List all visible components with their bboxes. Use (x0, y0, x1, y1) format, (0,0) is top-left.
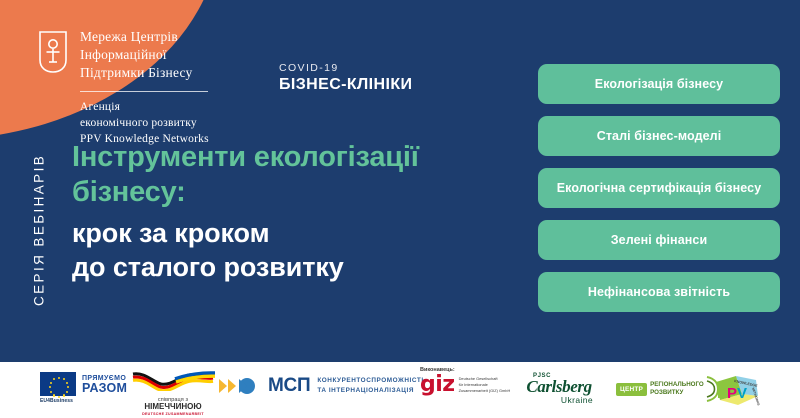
svg-text:V: V (737, 385, 747, 402)
logo-german-cooperation: співпраця з НІМЕЧЧИНОЮ DEUTSCHE ZUSAMMEN… (131, 371, 215, 416)
organization-name: Мережа Центрів Інформаційної Підтримки Б… (80, 28, 209, 82)
topic-pill-1[interactable]: Екологізація бізнесу (538, 64, 780, 104)
business-support-person-icon (38, 30, 68, 74)
logo-carlsberg: PJSC Carlsberg Ukraine (521, 373, 597, 405)
carlsberg-wordmark: Carlsberg (521, 379, 597, 395)
giz-wordmark: giz (420, 375, 455, 395)
logo-ppv-knowledge-networks: P P V KNOWLEDGE NETWORKS PPV KNOWLEDGE N… (712, 374, 772, 406)
topic-pill-2[interactable]: Сталі бізнес-моделі (538, 116, 780, 156)
german-coop-line3: DEUTSCHE ZUSAMMENARBEIT (131, 412, 215, 416)
msp-wordmark: МСП (268, 376, 310, 395)
msp-arrow-icon (219, 377, 261, 395)
giz-subtitle: Deutsche Gesellschaft für Internationale… (459, 376, 511, 394)
carlsberg-country: Ukraine (521, 395, 593, 405)
logo-giz: Виконавець: giz Deutsche Gesellschaft fü… (420, 367, 510, 395)
topic-pill-3[interactable]: Екологічна сертифікація бізнесу (538, 168, 780, 208)
german-coop-line2: НІМЕЧЧИНОЮ (131, 403, 215, 411)
crd-text: РЕГІОНАЛЬНОГО РОЗВИТКУ (650, 381, 704, 398)
topic-pill-5[interactable]: Нефінансова звітність (538, 272, 780, 312)
headline-primary: Інструменти екологізації бізнесу: (72, 140, 512, 210)
logo-regional-development-center: ЦЕНТР РЕГІОНАЛЬНОГО РОЗВИТКУ (616, 376, 720, 402)
organization-logo-block: Мережа Центрів Інформаційної Підтримки Б… (38, 28, 209, 147)
ppv-logo-icon: P P V KNOWLEDGE NETWORKS (712, 374, 772, 406)
webinar-series-banner: Мережа Центрів Інформаційної Підтримки Б… (0, 0, 800, 418)
logo-msp: МСП КОНКУРЕНТОСПРОМОЖНІСТЬ ТА ІНТЕРНАЦІО… (219, 376, 426, 395)
eyebrow-clinic-label: БІЗНЕС-КЛІНІКИ (279, 76, 412, 94)
page-title: Інструменти екологізації бізнесу: крок з… (72, 140, 512, 285)
ppv-tagline: KNOWLEDGE NETWORKS (772, 374, 773, 375)
svg-text:P: P (727, 385, 737, 402)
svg-text:P: P (717, 385, 727, 402)
msp-tagline: КОНКУРЕНТОСПРОМОЖНІСТЬ ТА ІНТЕРНАЦІОНАЛІ… (317, 376, 426, 395)
eyebrow-covid-label: COVID-19 (279, 62, 412, 74)
partner-logo-strip: EU4Business ПРЯМУЄМО РАЗОМ співпраця з Н… (0, 362, 800, 418)
eu-flag-icon (40, 372, 76, 396)
eyebrow-block: COVID-19 БІЗНЕС-КЛІНІКИ (279, 62, 412, 94)
german-ukrainian-ribbon-icon (131, 371, 215, 391)
topic-list: Екологізація бізнесу Сталі бізнес-моделі… (538, 64, 780, 312)
eu-slogan-line2: РАЗОМ (82, 382, 127, 395)
divider (80, 91, 208, 92)
crd-badge-label: ЦЕНТР (616, 383, 647, 396)
eu4business-caption: EU4Business (40, 398, 76, 404)
headline-secondary: крок за кроком до сталого розвитку (72, 216, 512, 285)
logo-eu4business: EU4Business ПРЯМУЄМО РАЗОМ (40, 372, 127, 404)
ppv-wordmark: PPV (772, 374, 773, 375)
topic-pill-4[interactable]: Зелені фінанси (538, 220, 780, 260)
series-vertical-label: СЕРІЯ ВЕБІНАРІВ (26, 140, 52, 320)
